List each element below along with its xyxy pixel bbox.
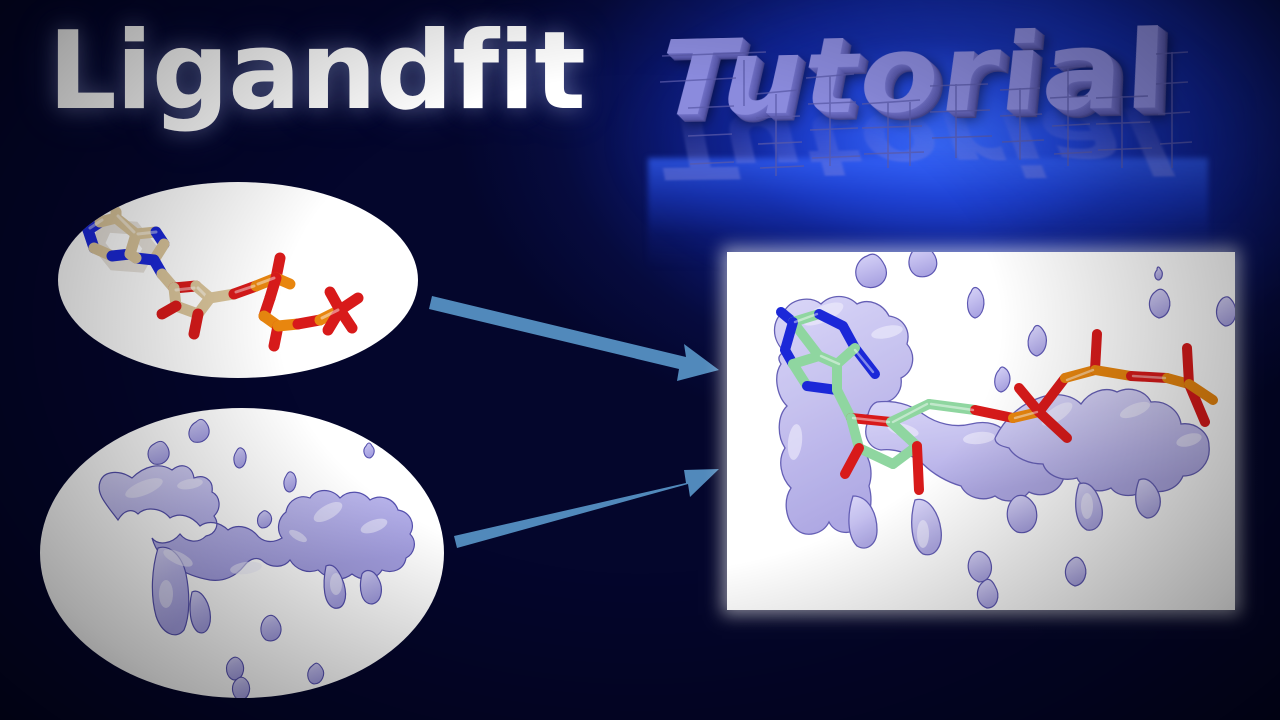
slide-root: Tutorial Tutorial Ligandfit [0, 0, 1280, 720]
background-vignette [0, 0, 1280, 720]
